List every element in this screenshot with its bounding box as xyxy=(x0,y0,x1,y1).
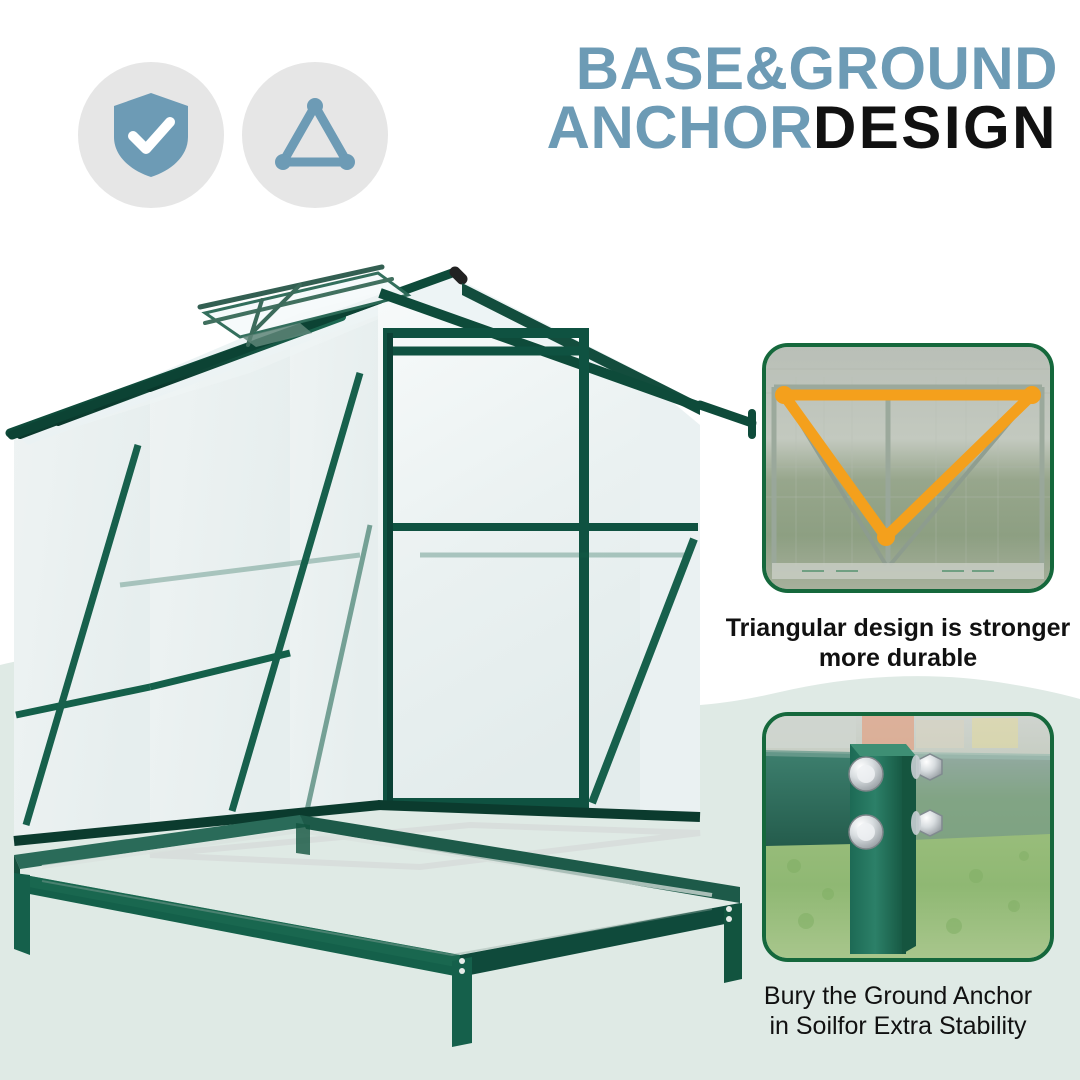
triangle-nodes-icon xyxy=(242,62,388,208)
caption-triangular-design: Triangular design is stronger more durab… xyxy=(718,614,1078,673)
greenhouse-illustration xyxy=(0,255,760,1080)
anchor-leg-left xyxy=(14,873,30,955)
base-rail-left xyxy=(766,752,854,846)
caption-ground-anchor: Bury the Ground Anchor in Soilfor Extra … xyxy=(718,982,1078,1041)
title-design-word: DESIGN xyxy=(813,94,1058,161)
anchor-post-top xyxy=(850,744,916,756)
anchor-leg-back xyxy=(296,823,310,855)
shield-check-icon xyxy=(78,62,224,208)
caption-anchor-line2: in Soilfor Extra Stability xyxy=(718,1012,1078,1042)
product-feature-graphic: BASE&GROUND ANCHORDESIGN xyxy=(0,0,1080,1080)
title-line-2: ANCHORDESIGN xyxy=(547,99,1058,158)
shield-check-glyph xyxy=(108,89,194,181)
title-anchor-word: ANCHOR xyxy=(547,94,813,161)
detail-card-ground-anchor xyxy=(762,712,1054,962)
header-badge-group xyxy=(78,62,388,208)
caption-tri-line1: Triangular design is stronger xyxy=(718,614,1078,644)
anchor-leg-right xyxy=(724,903,742,983)
page-title: BASE&GROUND ANCHORDESIGN xyxy=(547,40,1058,158)
ground-anchor-photo xyxy=(766,716,1050,958)
ground-anchor-base-frame xyxy=(14,815,742,1047)
triangle-nodes-glyph xyxy=(269,92,361,178)
caption-anchor-line1: Bury the Ground Anchor xyxy=(718,982,1078,1012)
triangular-design-photo xyxy=(766,347,1050,589)
detail-card-triangular-design xyxy=(762,343,1054,593)
caption-tri-line2: more durable xyxy=(718,644,1078,674)
title-line-1: BASE&GROUND xyxy=(547,40,1058,99)
